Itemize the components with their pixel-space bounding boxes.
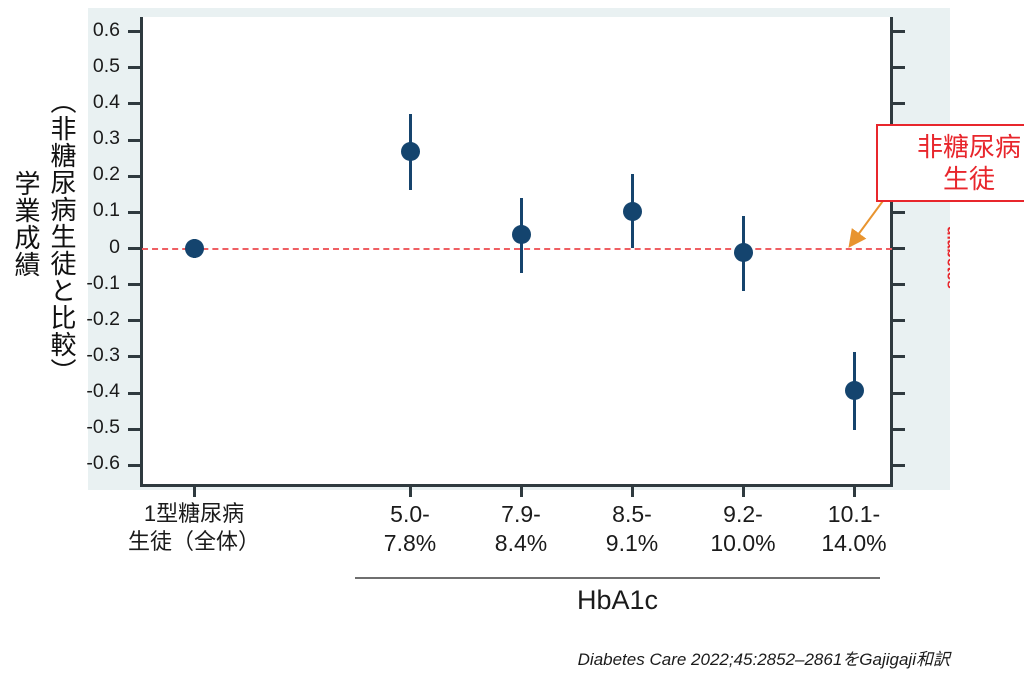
hba1c-bracket bbox=[355, 577, 880, 579]
x-tick bbox=[853, 486, 856, 497]
data-point bbox=[401, 142, 420, 161]
y-tick-label: 0.6 bbox=[0, 19, 120, 42]
y-tick bbox=[128, 428, 141, 431]
y-tick-right bbox=[892, 392, 905, 395]
x-tick bbox=[520, 486, 523, 497]
data-point bbox=[185, 239, 204, 258]
x-axis-group-label: 10.1- 14.0% bbox=[754, 500, 954, 559]
y-tick-right bbox=[892, 66, 905, 69]
y-tick-label: -0.6 bbox=[0, 452, 120, 475]
hba1c-label: HbA1c bbox=[355, 585, 880, 616]
y-tick-label: 0.5 bbox=[0, 55, 120, 78]
zero-reference-line bbox=[142, 248, 892, 250]
y-tick bbox=[128, 30, 141, 33]
y-tick-right bbox=[892, 355, 905, 358]
y-axis-title-line1: 学業成績 bbox=[8, 170, 45, 278]
callout-box: 非糖尿病 生徒 bbox=[876, 124, 1024, 202]
x-tick bbox=[742, 486, 745, 497]
y-tick-right bbox=[892, 428, 905, 431]
y-tick bbox=[128, 464, 141, 467]
data-point bbox=[845, 381, 864, 400]
callout-text: 非糖尿病 生徒 bbox=[917, 131, 1021, 196]
data-point bbox=[734, 243, 753, 262]
citation-text: Diabetes Care 2022;45:2852–2861をGajigaji… bbox=[0, 645, 950, 670]
x-tick bbox=[631, 486, 634, 497]
data-point bbox=[512, 225, 531, 244]
data-point bbox=[623, 202, 642, 221]
y-tick bbox=[128, 355, 141, 358]
x-axis-group-label: 1型糖尿病 生徒（全体） bbox=[94, 500, 294, 556]
y-tick-label: -0.5 bbox=[0, 416, 120, 439]
x-tick bbox=[409, 486, 412, 497]
y-tick-right bbox=[892, 30, 905, 33]
y-tick-right bbox=[892, 464, 905, 467]
plot-area bbox=[142, 17, 892, 485]
y-axis-title-line2: （非糖尿病生徒と比較） bbox=[44, 88, 81, 385]
y-tick bbox=[128, 283, 141, 286]
y-axis-line bbox=[140, 17, 143, 487]
y-tick bbox=[128, 102, 141, 105]
x-axis-line bbox=[140, 484, 892, 487]
y-tick bbox=[128, 247, 141, 250]
x-tick bbox=[193, 486, 196, 497]
chart-figure: 0.60.50.40.30.20.10-0.1-0.2-0.3-0.4-0.5-… bbox=[0, 0, 1024, 678]
y-tick bbox=[128, 392, 141, 395]
y-tick bbox=[128, 139, 141, 142]
y-tick bbox=[128, 319, 141, 322]
y-tick bbox=[128, 211, 141, 214]
y-tick bbox=[128, 175, 141, 178]
y-tick-right bbox=[892, 102, 905, 105]
y-tick bbox=[128, 66, 141, 69]
